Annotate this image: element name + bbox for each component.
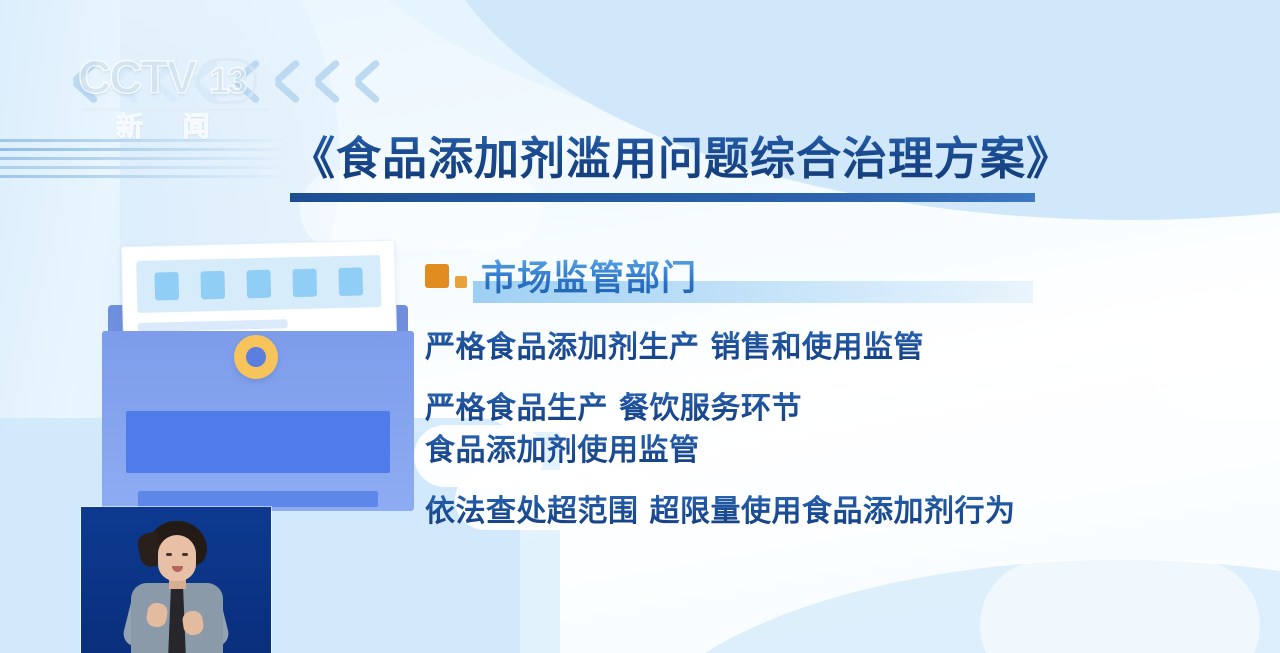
interpreter-mouth xyxy=(172,566,183,572)
stripe-line xyxy=(0,148,292,151)
list-item: 严格食品生产 餐饮服务环节 食品添加剂使用监管 xyxy=(425,386,1215,473)
list-item: 严格食品添加剂生产 销售和使用监管 xyxy=(425,325,1215,370)
section-heading-stack: 市场监管部门 xyxy=(481,259,1215,299)
square-bullet-large-icon xyxy=(425,264,449,288)
folder-bar-large xyxy=(126,411,390,473)
document-folder-illustration xyxy=(98,243,418,513)
paper-square-item xyxy=(338,267,363,296)
content-block: 市场监管部门 严格食品添加剂生产 销售和使用监管 严格食品生产 餐饮服务环节 食… xyxy=(425,255,1215,550)
sign-language-interpreter-inset xyxy=(81,507,271,653)
interpreter-face xyxy=(158,535,196,581)
paper-square-item xyxy=(292,269,317,298)
stripe-line xyxy=(0,175,292,178)
interpreter-eye-right xyxy=(182,553,188,556)
stripe-line xyxy=(0,157,292,160)
chevron-left-icon xyxy=(312,66,346,116)
folder-clasp-ring-icon xyxy=(234,335,278,379)
channel-number-badge: 13 xyxy=(197,58,257,104)
paper-square-item xyxy=(200,271,225,300)
section-heading-row: 市场监管部门 xyxy=(425,255,1215,303)
list-item-line: 严格食品添加剂生产 销售和使用监管 xyxy=(425,325,1215,370)
cctv13-logo: CCTV13 新 闻 xyxy=(78,52,278,138)
list-item-line: 食品添加剂使用监管 xyxy=(425,428,1215,473)
paper-square-item xyxy=(246,270,271,299)
square-bullet-small-icon xyxy=(455,276,467,288)
headline-block: 《食品添加剂滥用问题综合治理方案》 xyxy=(290,122,1072,202)
folder-bar-small xyxy=(138,491,378,507)
page-title: 《食品添加剂滥用问题综合治理方案》 xyxy=(290,122,1072,187)
list-item-line: 依法查处超范围 超限量使用食品添加剂行为 xyxy=(425,489,1215,534)
title-underline-bar xyxy=(290,193,1035,202)
interpreter-eye-left xyxy=(166,553,172,556)
cctv-wordmark: CCTV xyxy=(78,51,195,103)
cctv-logo-text: CCTV13 xyxy=(78,52,278,104)
broadcast-graphic-stage: CCTV13 新 闻 《食品添加剂滥用问题综合治理方案》 xyxy=(0,0,1280,653)
list-item-line: 严格食品生产 餐饮服务环节 xyxy=(425,386,1215,431)
stripe-line xyxy=(0,166,292,169)
chevron-left-icon xyxy=(352,66,386,116)
paper-header-band xyxy=(136,255,381,313)
logo-divider-bar xyxy=(84,108,270,111)
section-heading: 市场监管部门 xyxy=(481,259,1215,299)
list-item: 依法查处超范围 超限量使用食品添加剂行为 xyxy=(425,489,1215,534)
stripe-decoration-group xyxy=(0,139,292,187)
bullet-marker-group xyxy=(425,264,467,288)
clasp-inner-dot xyxy=(246,347,266,367)
paper-square-item xyxy=(154,272,179,301)
background-cloud-shape xyxy=(980,560,1260,653)
section-items-list: 严格食品添加剂生产 销售和使用监管 严格食品生产 餐饮服务环节 食品添加剂使用监… xyxy=(425,325,1215,534)
